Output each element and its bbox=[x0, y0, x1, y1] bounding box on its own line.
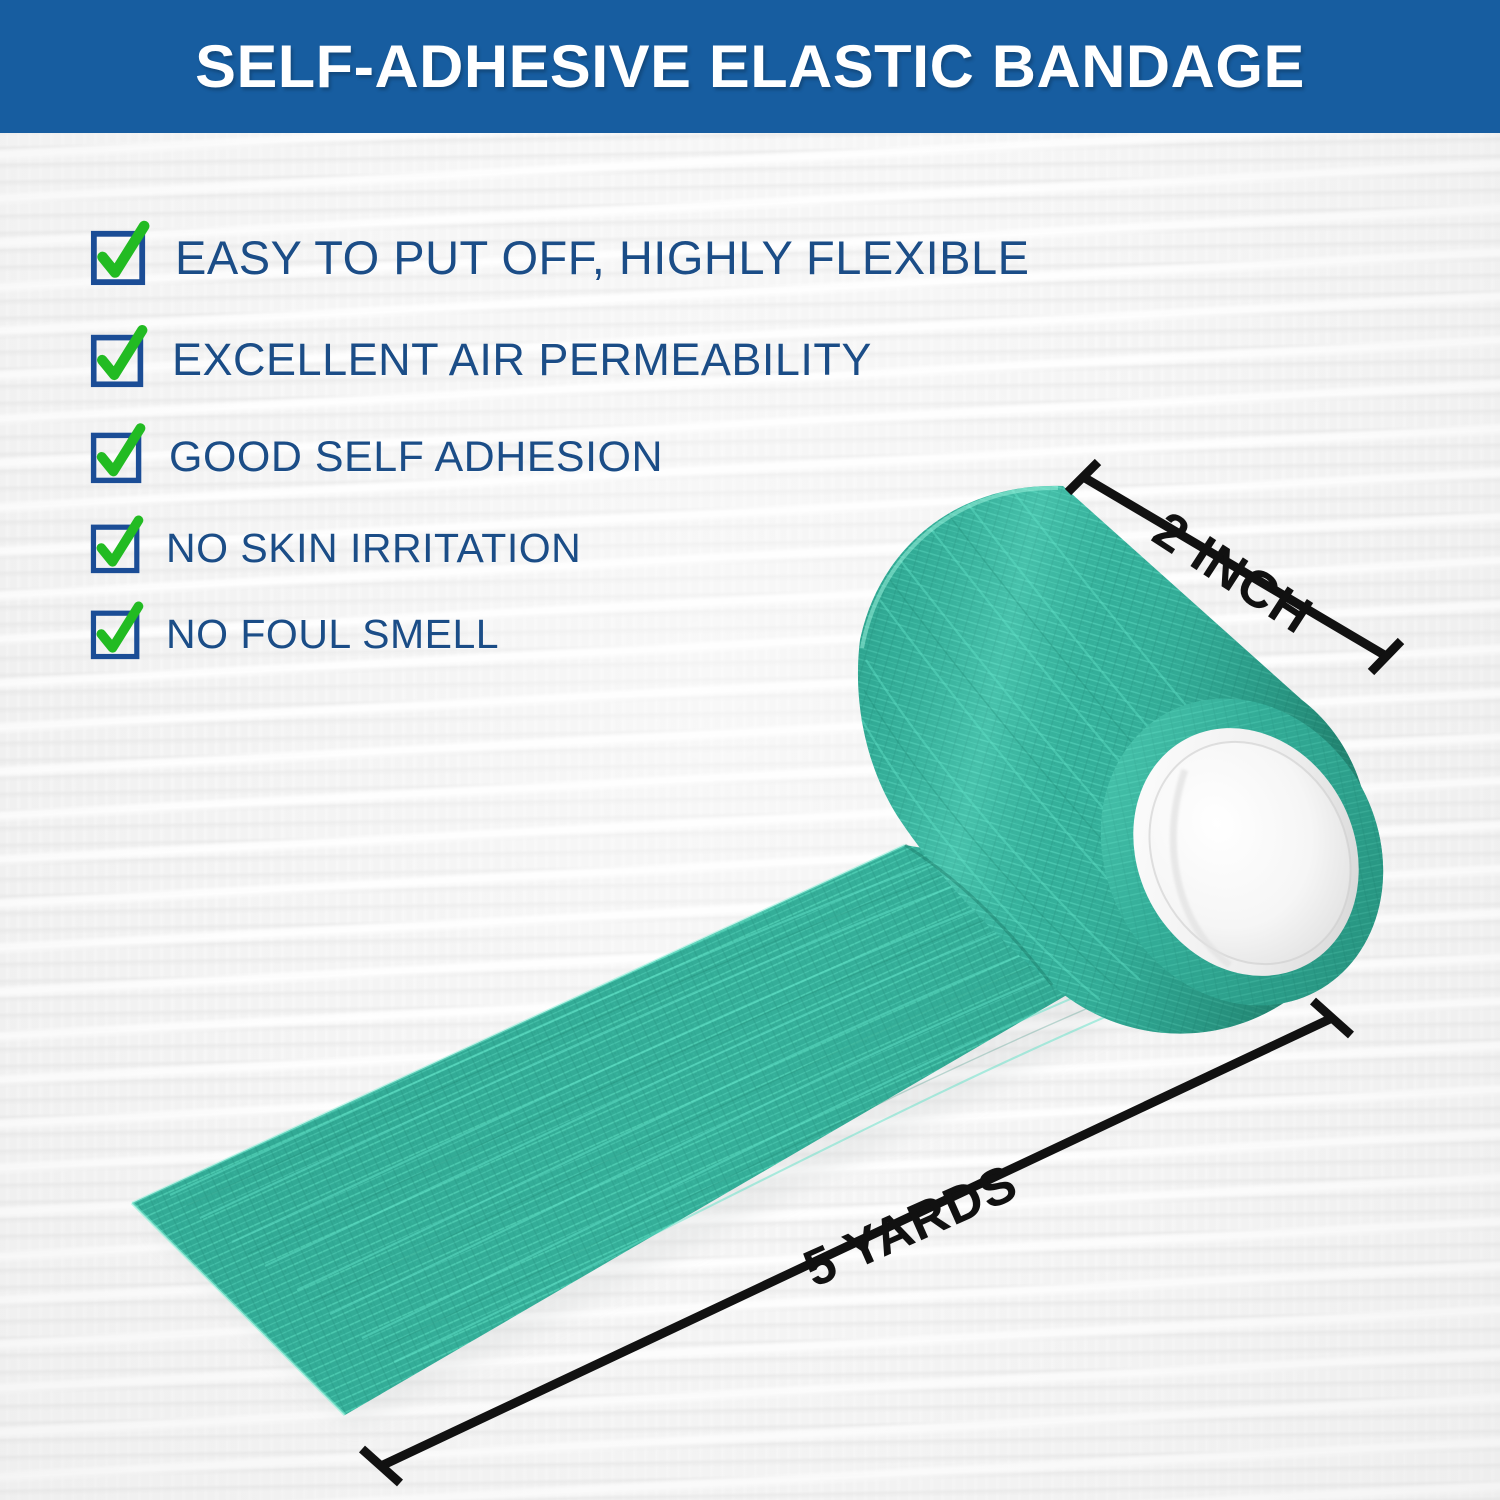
product-illustration bbox=[0, 0, 1500, 1500]
header-banner: SELF-ADHESIVE ELASTIC BANDAGE bbox=[0, 0, 1500, 133]
feature-list-item: GOOD SELF ADHESION bbox=[90, 430, 1029, 484]
checked-checkbox-icon bbox=[90, 228, 148, 286]
feature-list-item-label: NO SKIN IRRITATION bbox=[166, 525, 581, 572]
checked-checkbox-icon bbox=[90, 608, 142, 660]
feature-list-item: EXCELLENT AIR PERMEABILITY bbox=[90, 332, 1029, 388]
feature-list-item-label: EASY TO PUT OFF, HIGHLY FLEXIBLE bbox=[175, 230, 1029, 285]
page-title: SELF-ADHESIVE ELASTIC BANDAGE bbox=[195, 32, 1305, 101]
feature-list-item-label: GOOD SELF ADHESION bbox=[169, 433, 663, 482]
checked-checkbox-icon bbox=[90, 522, 142, 574]
feature-list-item: NO FOUL SMELL bbox=[90, 608, 1029, 660]
checked-checkbox-icon bbox=[90, 332, 146, 388]
product-infographic: SELF-ADHESIVE ELASTIC BANDAGE bbox=[0, 0, 1500, 1500]
feature-list-item-label: NO FOUL SMELL bbox=[166, 611, 499, 658]
feature-list-item: EASY TO PUT OFF, HIGHLY FLEXIBLE bbox=[90, 228, 1029, 286]
feature-list-item: NO SKIN IRRITATION bbox=[90, 522, 1029, 574]
checked-checkbox-icon bbox=[90, 430, 144, 484]
feature-list-item-label: EXCELLENT AIR PERMEABILITY bbox=[172, 334, 872, 386]
feature-list: EASY TO PUT OFF, HIGHLY FLEXIBLEEXCELLEN… bbox=[90, 228, 1029, 660]
